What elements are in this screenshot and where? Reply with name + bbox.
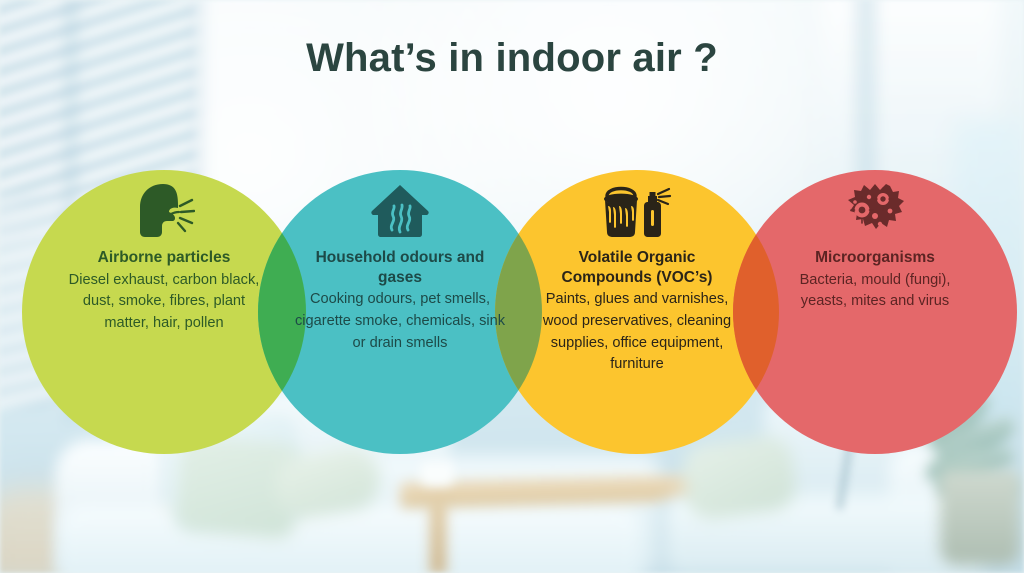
body-voc: Paints, glues and varnishes, wood preser… [530,289,744,376]
body-airborne-particles: Diesel exhaust, carbon black, dust, smok… [64,270,264,335]
heading-voc: Volatile Organic Compounds (VOC’s) [537,248,737,287]
house-odour-icon [369,178,431,240]
paint-bucket-spray-can-icon [602,178,672,240]
heading-microorganisms: Microorganisms [780,248,970,268]
body-household-odours: Cooking odours, pet smells, cigarette sm… [292,289,508,354]
body-microorganisms: Bacteria, mould (fungi), yeasts, mites a… [775,270,975,313]
microbe-cluster-icon [842,178,908,240]
heading-household-odours: Household odours and gases [305,248,495,287]
heading-airborne-particles: Airborne particles [69,248,259,268]
panel-microorganisms: Microorganisms Bacteria, mould (fungi), … [733,170,1017,454]
breathing-head-icon [133,178,195,240]
page-title: What’s in indoor air ? [0,36,1024,81]
